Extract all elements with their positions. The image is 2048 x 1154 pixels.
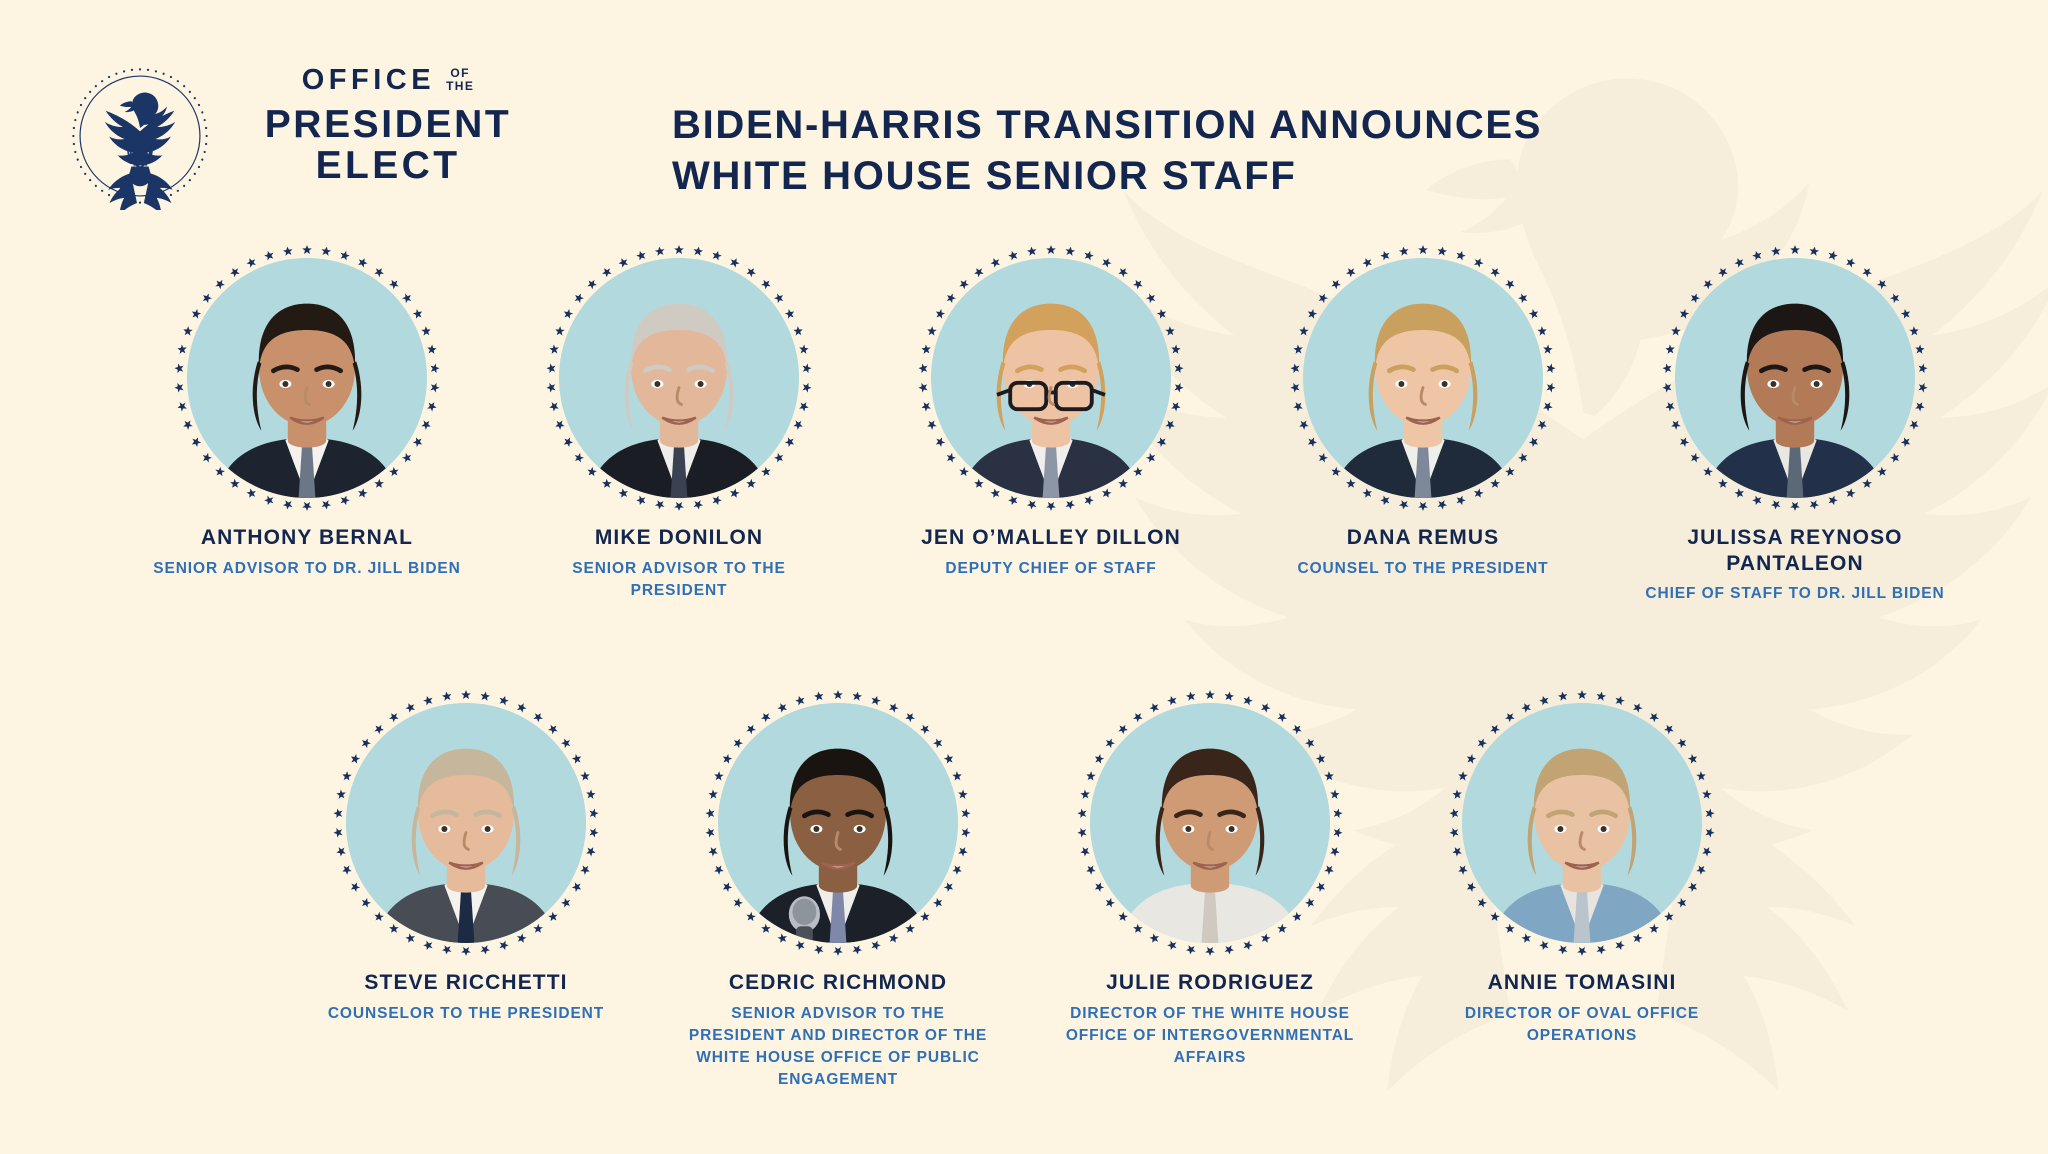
portrait-steve-ricchetti	[346, 703, 586, 943]
brand-lockup: OFFICE OF THE PRESIDENT ELECT	[228, 66, 548, 186]
brand-the-text: THE	[446, 80, 474, 93]
staff-avatar[interactable]	[346, 703, 586, 943]
staff-card[interactable]: STEVE RICCHETTI COUNSELOR TO THE PRESIDE…	[280, 703, 652, 1025]
staff-title: SENIOR ADVISOR TO DR. JILL BIDEN	[153, 558, 461, 580]
presidential-eagle-seal-icon: 46	[66, 62, 214, 210]
staff-title: DIRECTOR OF THE WHITE HOUSE OFFICE OF IN…	[1055, 1003, 1365, 1069]
staff-avatar[interactable]	[1462, 703, 1702, 943]
staff-name: MIKE DONILON	[595, 525, 763, 551]
staff-title: DIRECTOR OF OVAL OFFICE OPERATIONS	[1427, 1003, 1737, 1047]
staff-name: ANNIE TOMASINI	[1488, 970, 1677, 996]
staff-name: JULISSA REYNOSO PANTALEON	[1630, 525, 1960, 576]
portrait-mike-donilon	[559, 258, 799, 498]
staff-roster: ANTHONY BERNAL SENIOR ADVISOR TO DR. JIL…	[0, 258, 2048, 1091]
staff-card[interactable]: DANA REMUS COUNSEL TO THE PRESIDENT	[1237, 258, 1609, 580]
staff-title: COUNSEL TO THE PRESIDENT	[1298, 558, 1549, 580]
portrait-dana-remus	[1303, 258, 1543, 498]
portrait-anthony-bernal	[187, 258, 427, 498]
staff-card[interactable]: JULISSA REYNOSO PANTALEON CHIEF OF STAFF…	[1609, 258, 1981, 605]
staff-card[interactable]: ANTHONY BERNAL SENIOR ADVISOR TO DR. JIL…	[121, 258, 493, 580]
staff-avatar[interactable]	[1090, 703, 1330, 943]
portrait-jen-omalley-dillon	[931, 258, 1171, 498]
staff-name: CEDRIC RICHMOND	[729, 970, 947, 996]
staff-card[interactable]: ANNIE TOMASINI DIRECTOR OF OVAL OFFICE O…	[1396, 703, 1768, 1047]
staff-card[interactable]: CEDRIC RICHMOND SENIOR ADVISOR TO THE PR…	[652, 703, 1024, 1091]
staff-name: DANA REMUS	[1347, 525, 1500, 551]
staff-title: SENIOR ADVISOR TO THE PRESIDENT	[524, 558, 834, 602]
brand-president-text: PRESIDENT	[228, 105, 548, 146]
staff-card[interactable]: JULIE RODRIGUEZ DIRECTOR OF THE WHITE HO…	[1024, 703, 1396, 1069]
portrait-julissa-reynoso-pantaleon	[1675, 258, 1915, 498]
seal-number: 46	[134, 177, 146, 189]
brand-elect-text: ELECT	[228, 146, 548, 187]
staff-title: CHIEF OF STAFF TO DR. JILL BIDEN	[1645, 583, 1944, 605]
portrait-julie-rodriguez	[1090, 703, 1330, 943]
staff-name: ANTHONY BERNAL	[201, 525, 413, 551]
page-header: 46 OFFICE OF THE PRESIDENT ELECT BIDEN-H…	[0, 0, 2048, 240]
staff-avatar[interactable]	[1675, 258, 1915, 498]
page-title: BIDEN-HARRIS TRANSITION ANNOUNCES WHITE …	[672, 100, 1542, 202]
staff-avatar[interactable]	[931, 258, 1171, 498]
staff-avatar[interactable]	[187, 258, 427, 498]
brand-office-text: OFFICE	[302, 66, 435, 95]
staff-title: DEPUTY CHIEF OF STAFF	[945, 558, 1156, 580]
staff-title: SENIOR ADVISOR TO THE PRESIDENT AND DIRE…	[683, 1003, 993, 1091]
staff-name: STEVE RICCHETTI	[364, 970, 567, 996]
headline-line-1: BIDEN-HARRIS TRANSITION ANNOUNCES	[672, 100, 1542, 151]
staff-avatar[interactable]	[1303, 258, 1543, 498]
staff-row-1: ANTHONY BERNAL SENIOR ADVISOR TO DR. JIL…	[0, 258, 2048, 605]
headline-line-2: WHITE HOUSE SENIOR STAFF	[672, 151, 1542, 202]
staff-card[interactable]: JEN O’MALLEY DILLON DEPUTY CHIEF OF STAF…	[865, 258, 1237, 580]
staff-name: JEN O’MALLEY DILLON	[921, 525, 1181, 551]
portrait-cedric-richmond	[718, 703, 958, 943]
staff-avatar[interactable]	[559, 258, 799, 498]
staff-title: COUNSELOR TO THE PRESIDENT	[328, 1003, 604, 1025]
brand-line-office-of-the: OFFICE OF THE	[228, 66, 548, 100]
portrait-annie-tomasini	[1462, 703, 1702, 943]
staff-name: JULIE RODRIGUEZ	[1106, 970, 1314, 996]
brand-of-text: OF	[450, 67, 469, 80]
staff-row-2: STEVE RICCHETTI COUNSELOR TO THE PRESIDE…	[0, 703, 2048, 1091]
staff-card[interactable]: MIKE DONILON SENIOR ADVISOR TO THE PRESI…	[493, 258, 865, 602]
brand-of-the-stack: OF THE	[446, 66, 474, 92]
staff-avatar[interactable]	[718, 703, 958, 943]
